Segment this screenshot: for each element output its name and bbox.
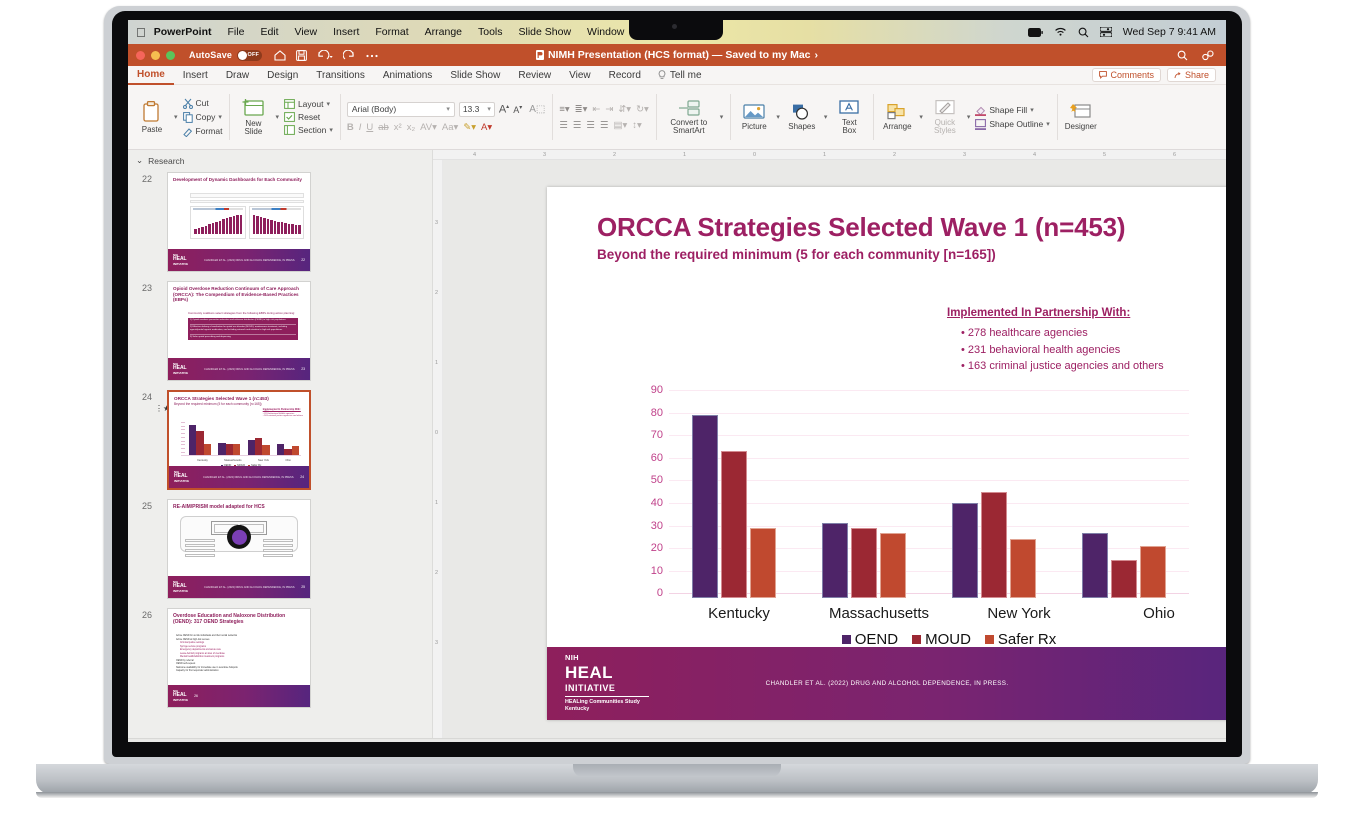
slide-thumbnail-panel[interactable]: ⌄ Research 22 Development of Dynamic Das…: [128, 150, 433, 738]
copy-button[interactable]: Copy ▾: [183, 112, 223, 123]
picture-label: Picture: [742, 123, 767, 131]
home-icon[interactable]: [274, 50, 286, 61]
align-left-button[interactable]: ☰: [559, 120, 568, 131]
thumbnail-page: 22: [301, 258, 305, 262]
apple-logo-icon[interactable]: : [136, 26, 146, 39]
menu-arrange[interactable]: Arrange: [417, 26, 470, 38]
menubar-clock[interactable]: Wed Sep 7 9:41 AM: [1123, 26, 1216, 38]
horizontal-ruler[interactable]: 4 3 2 1 0 1 2 3 4 5 6: [433, 150, 1226, 160]
copy-icon: [183, 112, 193, 123]
thumbnail-page: 25: [301, 585, 305, 589]
quick-styles-button[interactable]: QuickStyles: [928, 99, 962, 136]
italic-button[interactable]: I: [359, 122, 362, 133]
legend-item-moud[interactable]: MOUD: [912, 631, 971, 648]
bar-new-york-safer-rx[interactable]: [1010, 539, 1036, 598]
scissors-icon: [183, 98, 193, 109]
slide-title[interactable]: ORCCA Strategies Selected Wave 1 (n=453): [597, 212, 1217, 243]
new-slide-button[interactable]: NewSlide: [236, 98, 270, 137]
tab-transitions[interactable]: Transitions: [307, 66, 374, 85]
thumbnail-number: 24: [132, 390, 152, 402]
change-case-button[interactable]: Aa▾: [442, 122, 458, 133]
new-slide-label: NewSlide: [245, 120, 263, 137]
thumbnail-citation: CHANDLER ET AL. (2022) DRUG AND ALCOHOL …: [204, 259, 295, 262]
logo-site-text: Kentucky: [565, 706, 649, 713]
powerpoint-file-icon: [536, 50, 544, 60]
section-header-research[interactable]: ⌄ Research: [128, 150, 432, 169]
ruler-tick: 2: [893, 152, 896, 158]
superscript-button[interactable]: x²: [394, 122, 402, 133]
thumbnail-title: Development of Dynamic Dashboards for Ea…: [173, 177, 305, 183]
arrange-button[interactable]: Arrange: [880, 103, 914, 131]
ruler-tick: 4: [1033, 152, 1036, 158]
logo-study-text: HEALing Communities Study: [565, 699, 649, 706]
thumbnail-page: 24: [300, 475, 304, 479]
share-button[interactable]: Share: [1167, 68, 1216, 82]
close-window-button[interactable]: [136, 51, 145, 60]
tell-me-box[interactable]: Tell me: [650, 70, 702, 81]
decrease-indent-button[interactable]: ⇤: [592, 104, 600, 115]
layout-label: Layout: [298, 99, 324, 109]
battery-icon[interactable]: [1028, 28, 1043, 37]
ribbon-body: Paste ▾ Cut Copy ▾: [128, 85, 1226, 150]
menu-view[interactable]: View: [287, 26, 326, 38]
chevron-down-icon[interactable]: ⌄: [136, 155, 143, 166]
legend-label-safer-rx: Safer Rx: [998, 631, 1056, 648]
thumbnail-number: 25: [132, 499, 152, 511]
thumbnail-row-selected[interactable]: 24 ⋮★ ORCCA Strategies Selected Wave 1 (…: [128, 387, 432, 496]
arrange-label: Arrange: [883, 123, 911, 131]
ruler-tick: 6: [1173, 152, 1176, 158]
partnership-item: • 231 behavioral health agencies: [947, 342, 1226, 359]
legend-label-oend: OEND: [855, 631, 898, 648]
ribbon-group-smartart: Convert toSmartArt ▾: [656, 85, 731, 149]
increase-font-size-button[interactable]: A▴: [499, 103, 509, 116]
ribbon-group-clipboard: Paste ▾ Cut Copy ▾: [128, 85, 229, 149]
thumbnail-number: 22: [132, 172, 152, 184]
cut-label: Cut: [196, 98, 209, 108]
logo-divider: [565, 696, 649, 697]
wifi-icon[interactable]: [1054, 27, 1067, 37]
bar-group-massachusetts: [799, 390, 929, 598]
more-icon[interactable]: [365, 50, 379, 61]
thumbnail-logo: NIHHEALINITIATIVE: [173, 254, 188, 267]
paste-chevron-down-icon[interactable]: ▾: [174, 113, 178, 121]
bar-new-york-oend[interactable]: [952, 503, 978, 598]
bar-kentucky-oend[interactable]: [692, 415, 718, 598]
redo-icon[interactable]: [343, 50, 355, 61]
bar-ohio-safer-rx[interactable]: [1140, 546, 1166, 598]
laptop-base-notch: [573, 764, 781, 777]
thumbnail-row[interactable]: 22 Development of Dynamic Dashboards for…: [128, 169, 432, 278]
search-icon[interactable]: [1078, 27, 1089, 38]
smartart-chevron-down-icon[interactable]: ▾: [720, 113, 724, 121]
font-name-chevron-down-icon[interactable]: ▾: [446, 105, 450, 113]
thumbnail-logo: NIHHEALINITIATIVE: [173, 690, 188, 703]
section-button[interactable]: Section ▾: [284, 125, 333, 135]
y-axis-tick: 90: [629, 384, 663, 396]
bulleted-list-button[interactable]: ≡▾: [559, 104, 569, 115]
partnership-textbox[interactable]: Implemented In Partnership With: • 278 h…: [947, 307, 1226, 375]
autosave-label: AutoSave: [189, 50, 232, 60]
comments-button[interactable]: Comments: [1092, 68, 1161, 82]
arrange-chevron-down-icon[interactable]: ▾: [919, 113, 923, 121]
tab-home[interactable]: Home: [128, 66, 174, 85]
text-highlight-icon[interactable]: ✎▾: [463, 122, 476, 133]
autosave-control[interactable]: AutoSave OFF: [189, 50, 262, 61]
vruler-tick: 3: [435, 220, 438, 226]
font-size-input[interactable]: 13.3 ▾: [459, 102, 495, 117]
comment-bubble-icon: [1099, 71, 1107, 79]
text-direction-button[interactable]: ↻▾: [636, 104, 649, 115]
ruler-tick: 1: [823, 152, 826, 158]
align-center-button[interactable]: ☰: [573, 120, 582, 131]
format-painter-label: Format: [196, 126, 223, 136]
copy-chevron-down-icon[interactable]: ▾: [218, 113, 222, 121]
convert-to-smartart-label: Convert toSmartArt: [670, 119, 707, 136]
bar-massachusetts-moud[interactable]: [851, 528, 877, 598]
vruler-tick: 2: [435, 290, 438, 296]
shape-fill-icon: [975, 105, 986, 116]
thumbnail-number: 26: [132, 608, 152, 620]
quick-styles-icon: [934, 99, 956, 117]
y-axis-tick: 70: [629, 429, 663, 441]
shapes-label: Shapes: [788, 123, 815, 131]
thumbnail-footer: NIHHEALINITIATIVE CHANDLER ET AL. (2022)…: [169, 466, 309, 488]
bar-new-york-moud[interactable]: [981, 492, 1007, 598]
menu-format[interactable]: Format: [367, 26, 416, 38]
thumbnail-row[interactable]: 23 Opioid Overdose Reduction Continuum o…: [128, 278, 432, 387]
section-chevron-down-icon[interactable]: ▾: [329, 126, 333, 134]
thumbnail-footer: NIHHEALINITIATIVE CHANDLER ET AL. (2022)…: [168, 358, 310, 380]
vruler-tick: 2: [435, 570, 438, 576]
x-axis-label-ohio: Ohio: [1089, 605, 1226, 622]
line-spacing-button[interactable]: ⇵▾: [618, 104, 631, 115]
picture-icon: [743, 103, 765, 121]
font-size-chevron-down-icon[interactable]: ▾: [487, 105, 491, 113]
thumbnail-title: Opioid Overdose Reduction Continuum of C…: [173, 286, 305, 303]
thumbnail-marker: [155, 608, 164, 622]
thumbnail-slide-24[interactable]: ORCCA Strategies Selected Wave 1 (n=453)…: [167, 390, 311, 490]
section-label: Section: [298, 125, 326, 135]
menu-slide-show[interactable]: Slide Show: [511, 26, 580, 38]
reset-button[interactable]: Reset: [284, 112, 333, 122]
slide-footer: NIH HEAL INITIATIVE HEALing Communities …: [547, 647, 1226, 720]
tab-animations[interactable]: Animations: [374, 66, 441, 85]
share-button-label: Share: [1185, 70, 1209, 80]
decrease-font-size-button[interactable]: A▾: [513, 104, 522, 115]
increase-indent-button[interactable]: ⇥: [605, 104, 613, 115]
ribbon-tab-strip: Home Insert Draw Design Transitions Anim…: [128, 66, 1226, 85]
menu-tools[interactable]: Tools: [470, 26, 511, 38]
ribbon-group-font: Arial (Body) ▾ 13.3 ▾ A▴ A▾ A⬚ B I: [340, 85, 553, 149]
laptop-base-shadow: [36, 792, 1318, 798]
numbered-list-button[interactable]: ≣▾: [575, 104, 588, 115]
y-axis-tick: 10: [629, 565, 663, 577]
x-axis-label-kentucky: Kentucky: [669, 605, 809, 622]
menu-file[interactable]: File: [220, 26, 253, 38]
paste-button[interactable]: Paste: [135, 100, 169, 134]
chart-x-axis-labels: Kentucky Massachusetts New York Ohio: [669, 605, 1226, 622]
shape-fill-button[interactable]: Shape Fill ▾: [975, 105, 1049, 116]
ribbon-group-slides: NewSlide ▾ Layout ▾ Res: [229, 85, 339, 149]
shape-fill-chevron-down-icon[interactable]: ▾: [1030, 106, 1034, 114]
bar-massachusetts-safer-rx[interactable]: [880, 533, 906, 599]
ribbon-search-icon[interactable]: [1177, 50, 1188, 61]
thumbnail-page: 26: [194, 694, 198, 698]
tab-view[interactable]: View: [560, 66, 600, 85]
vruler-tick: 1: [435, 360, 438, 366]
bold-button[interactable]: B: [347, 122, 354, 133]
legend-swatch-moud: [912, 635, 921, 644]
subscript-button[interactable]: x₂: [407, 122, 415, 133]
y-axis-tick: 80: [629, 407, 663, 419]
strikethrough-button[interactable]: ab: [378, 122, 389, 133]
window-controls[interactable]: [136, 51, 175, 60]
shape-outline-icon: [975, 119, 986, 130]
thumbnail-logo: NIHHEALINITIATIVE: [173, 581, 188, 594]
minimize-window-button[interactable]: [151, 51, 160, 60]
new-slide-chevron-down-icon[interactable]: ▾: [275, 113, 279, 121]
thumbnail-slide-26[interactable]: Overdose Education and Naloxone Distribu…: [167, 608, 311, 708]
shapes-button[interactable]: Shapes: [785, 103, 819, 131]
align-right-button[interactable]: ☰: [586, 120, 595, 131]
quick-styles-label: QuickStyles: [934, 119, 956, 136]
maximize-window-button[interactable]: [166, 51, 175, 60]
section-icon: [284, 125, 295, 135]
thumbnail-citation: CHANDLER ET AL. (2022) DRUG AND ALCOHOL …: [204, 586, 295, 589]
tab-record[interactable]: Record: [600, 66, 650, 85]
undo-icon[interactable]: [317, 50, 333, 61]
text-box-button[interactable]: TextBox: [832, 99, 866, 136]
slide-subtitle[interactable]: Beyond the required minimum (5 for each …: [597, 247, 1217, 262]
ruler-tick: 0: [753, 152, 756, 158]
quick-styles-chevron-down-icon[interactable]: ▾: [967, 113, 971, 121]
ribbon-group-insert: Picture ▾ Shapes ▾ TextBox: [730, 85, 873, 149]
thumbnail-star-icon: ⋮★: [155, 390, 164, 413]
format-painter-icon: [183, 126, 193, 137]
copy-label: Copy: [196, 112, 216, 122]
y-axis-tick: 0: [629, 587, 663, 599]
app-titlebar: AutoSave OFF: [128, 44, 1226, 66]
designer-label: Designer: [1065, 123, 1097, 131]
footer-citation: CHANDLER ET AL. (2022) DRUG AND ALCOHOL …: [547, 680, 1226, 687]
thumbnail-bullet: Capacity for first responder administrat…: [176, 670, 302, 674]
tab-slide-show[interactable]: Slide Show: [441, 66, 509, 85]
paste-label: Paste: [142, 126, 162, 134]
font-color-icon[interactable]: A▾: [481, 122, 492, 133]
tab-insert[interactable]: Insert: [174, 66, 217, 85]
reset-label: Reset: [298, 112, 320, 122]
shape-outline-chevron-down-icon[interactable]: ▾: [1046, 120, 1050, 128]
thumbnail-footer: NIHHEALINITIATIVE 26: [168, 685, 310, 707]
layout-chevron-down-icon[interactable]: ▾: [326, 100, 330, 108]
align-text-button[interactable]: ↕▾: [632, 120, 642, 131]
legend-item-oend[interactable]: OEND: [842, 631, 898, 648]
picture-chevron-down-icon[interactable]: ▾: [776, 113, 780, 121]
camera-notch: [629, 20, 723, 40]
bar-group-new-york: [929, 390, 1059, 598]
section-header-label: Research: [148, 156, 184, 166]
menu-powerpoint[interactable]: PowerPoint: [146, 26, 220, 38]
document-title-text[interactable]: NIMH Presentation (HCS format) — Saved t…: [548, 49, 811, 61]
laptop-frame:  PowerPoint File Edit View Insert Forma…: [0, 0, 1354, 830]
link-icon[interactable]: [1202, 50, 1214, 61]
ruler-tick: 1: [683, 152, 686, 158]
thumbnail-slide-23[interactable]: Opioid Overdose Reduction Continuum of C…: [167, 281, 311, 381]
bar-ohio-moud[interactable]: [1111, 560, 1137, 598]
legend-swatch-oend: [842, 635, 851, 644]
menu-window[interactable]: Window: [579, 26, 632, 38]
thumbnail-marker: [155, 281, 164, 295]
thumbnail-citation: CHANDLER ET AL. (2022) DRUG AND ALCOHOL …: [203, 476, 294, 479]
current-slide[interactable]: ORCCA Strategies Selected Wave 1 (n=453)…: [547, 187, 1226, 720]
legend-item-safer-rx[interactable]: Safer Rx: [985, 631, 1056, 648]
tab-design[interactable]: Design: [258, 66, 307, 85]
bar-ohio-oend[interactable]: [1082, 533, 1108, 599]
thumbnail-slide-25[interactable]: RE-AIM/PRISM model adapted for HCS: [167, 499, 311, 599]
screen:  PowerPoint File Edit View Insert Forma…: [128, 20, 1226, 742]
save-icon[interactable]: [296, 50, 307, 61]
ribbon-group-paragraph: ≡▾ ≣▾ ⇤ ⇥ ⇵▾ ↻▾ ☰ ☰ ☰ ☰ ▤▾ ↕▾: [552, 85, 655, 149]
x-axis-label-new-york: New York: [949, 605, 1089, 622]
thumbnail-marker: [155, 172, 164, 186]
designer-button[interactable]: Designer: [1064, 103, 1098, 131]
shape-outline-button[interactable]: Shape Outline ▾: [975, 119, 1049, 130]
columns-button[interactable]: ▤▾: [613, 120, 627, 131]
character-spacing-button[interactable]: AV▾: [420, 122, 437, 133]
font-size-value: 13.3: [463, 104, 480, 114]
designer-icon: [1070, 103, 1092, 121]
shapes-icon: [791, 103, 813, 121]
vruler-tick: 3: [435, 640, 438, 646]
comments-button-label: Comments: [1110, 70, 1154, 80]
y-axis-tick: 60: [629, 452, 663, 464]
camera-icon: [672, 24, 677, 29]
smartart-icon: [677, 99, 701, 117]
control-center-icon[interactable]: [1100, 27, 1112, 37]
thumbnail-footer: NIHHEALINITIATIVE CHANDLER ET AL. (2022)…: [168, 249, 310, 271]
thumbnail-mini-chart: KentuckyMassachusettsNew YorkOhio OENDMO…: [181, 422, 301, 456]
thumbnail-marker: [155, 499, 164, 513]
thumbnail-block: 2) Effective delivery of medication for …: [190, 326, 296, 332]
text-box-label: TextBox: [842, 119, 857, 136]
slide-canvas-area[interactable]: ORCCA Strategies Selected Wave 1 (n=453)…: [443, 160, 1226, 738]
x-axis-label-massachusetts: Massachusetts: [809, 605, 949, 622]
font-name-value: Arial (Body): [352, 104, 396, 114]
vertical-ruler[interactable]: 3 2 1 0 1 2 3: [433, 160, 443, 738]
tab-draw[interactable]: Draw: [217, 66, 258, 85]
new-slide-icon: [241, 98, 265, 118]
bar-kentucky-moud[interactable]: [721, 451, 747, 598]
y-axis-tick: 40: [629, 497, 663, 509]
clear-formatting-icon[interactable]: A⬚: [529, 104, 545, 115]
font-name-input[interactable]: Arial (Body) ▾: [347, 102, 455, 117]
thumbnail-page: 23: [301, 367, 305, 371]
autosave-state: OFF: [248, 52, 260, 58]
format-painter-button[interactable]: Format: [183, 126, 223, 137]
legend-label-moud: MOUD: [925, 631, 971, 648]
y-axis-tick: 50: [629, 474, 663, 486]
bar-group-kentucky: [669, 390, 799, 598]
ruler-tick: 5: [1103, 152, 1106, 158]
menu-edit[interactable]: Edit: [252, 26, 286, 38]
legend-swatch-safer-rx: [985, 635, 994, 644]
layout-icon: [284, 99, 295, 109]
vruler-tick: 1: [435, 500, 438, 506]
paste-icon: [141, 100, 163, 124]
chart-legend[interactable]: OEND MOUD Safer Rx: [669, 631, 1226, 648]
vruler-tick: 0: [435, 430, 438, 436]
thumbnail-subtitle: Beyond the required minimum (5 for each …: [174, 402, 304, 406]
thumbnail-subtitle: Community coalitions select strategies f…: [188, 312, 298, 316]
partnership-item: • 163 criminal justice agencies and othe…: [947, 358, 1226, 375]
picture-button[interactable]: Picture: [737, 103, 771, 131]
y-axis-tick: 30: [629, 520, 663, 532]
logo-nih-text: NIH: [565, 654, 649, 663]
ruler-tick: 3: [963, 152, 966, 158]
text-box-icon: [838, 99, 860, 117]
ruler-tick: 2: [613, 152, 616, 158]
thumbnail-logo: NIHHEALINITIATIVE: [174, 471, 189, 484]
justify-button[interactable]: ☰: [600, 120, 609, 131]
arrange-icon: [886, 103, 908, 121]
ruler-tick: 3: [543, 152, 546, 158]
title-chevron-down-icon[interactable]: ›: [815, 49, 819, 61]
tell-me-label: Tell me: [670, 70, 702, 81]
layout-button[interactable]: Layout ▾: [284, 99, 333, 109]
ribbon-group-designer: Designer: [1057, 85, 1105, 149]
thumbnail-title: RE-AIM/PRISM model adapted for HCS: [173, 504, 305, 510]
thumbnail-slide-22[interactable]: Development of Dynamic Dashboards for Ea…: [167, 172, 311, 272]
thumbnail-block: 3) Safer opioid prescribing and dispensi…: [190, 336, 296, 339]
bar-massachusetts-oend[interactable]: [822, 523, 848, 598]
shape-outline-label: Shape Outline: [989, 119, 1043, 129]
bar-kentucky-safer-rx[interactable]: [750, 528, 776, 598]
status-bar: Slide 24 of 44 English (United States) N…: [128, 738, 1226, 742]
partnership-heading: Implemented In Partnership With:: [947, 307, 1226, 319]
thumbnail-number: 23: [132, 281, 152, 293]
shape-fill-label: Shape Fill: [989, 105, 1027, 115]
lightbulb-icon: [658, 70, 666, 80]
convert-to-smartart-button[interactable]: Convert toSmartArt: [663, 99, 715, 136]
y-axis-tick: 20: [629, 542, 663, 554]
cut-button[interactable]: Cut: [183, 98, 223, 109]
share-icon: [1174, 71, 1182, 79]
shapes-chevron-down-icon[interactable]: ▾: [824, 113, 828, 121]
thumbnail-row[interactable]: 26 Overdose Education and Naloxone Distr…: [128, 605, 432, 714]
underline-button[interactable]: U: [366, 122, 373, 133]
thumbnail-citation: CHANDLER ET AL. (2022) DRUG AND ALCOHOL …: [204, 368, 295, 371]
thumbnail-block: 1) Opioid overdose prevention education …: [190, 319, 296, 322]
thumbnail-title: Overdose Education and Naloxone Distribu…: [173, 613, 305, 626]
autosave-toggle[interactable]: OFF: [237, 50, 262, 61]
reset-icon: [284, 112, 295, 122]
tab-review[interactable]: Review: [509, 66, 560, 85]
bar-chart[interactable]: 90 80 70 60 50 40 30 20 10 0: [629, 390, 1189, 598]
thumbnail-footer: NIHHEALINITIATIVE CHANDLER ET AL. (2022)…: [168, 576, 310, 598]
menu-insert[interactable]: Insert: [325, 26, 367, 38]
partnership-item: • 278 healthcare agencies: [947, 325, 1226, 342]
ribbon-group-drawing: Arrange ▾ QuickStyles ▾ Shape Fill: [873, 85, 1056, 149]
thumbnail-logo: NIHHEALINITIATIVE: [173, 363, 188, 376]
ruler-tick: 4: [473, 152, 476, 158]
chart-bar-groups: [669, 390, 1189, 598]
bar-group-ohio: [1059, 390, 1189, 598]
thumbnail-row[interactable]: 25 RE-AIM/PRISM model adapted for HCS: [128, 496, 432, 605]
